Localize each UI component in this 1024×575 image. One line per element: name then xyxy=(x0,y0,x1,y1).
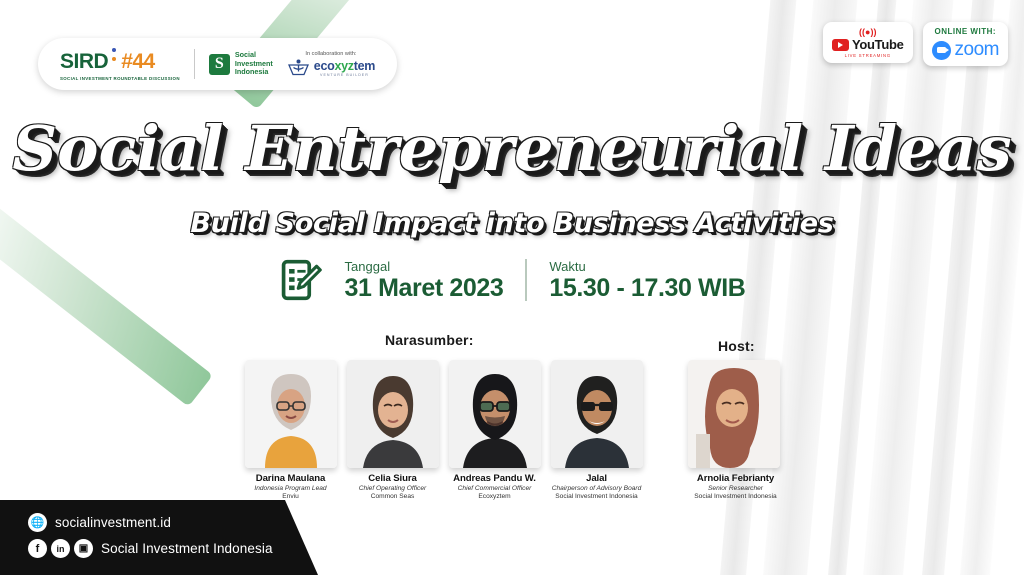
sii-line-3: Indonesia xyxy=(235,68,273,76)
speaker-photo-andreas-pandu-w xyxy=(449,360,541,468)
host-role: Senior Researcher xyxy=(688,485,783,493)
speaker-card: Jalal Chairperson of Advisory Board Soci… xyxy=(549,360,644,501)
youtube-play-icon xyxy=(832,39,849,51)
ecoxyztem-wordmark: ecoxyztem xyxy=(314,59,375,73)
speakers-list: Darina Maulana Indonesia Program Lead En… xyxy=(243,360,644,501)
social-row: f in ▣ Social Investment Indonesia xyxy=(28,539,318,558)
globe-icon: 🌐 xyxy=(28,513,47,532)
ecoxyztem-mark-icon xyxy=(287,59,310,77)
event-poster: SIRD #44 SOCIAL INVESTMENT ROUNDTABLE DI… xyxy=(0,0,1024,575)
speaker-name: Celia Siura xyxy=(368,473,417,484)
social-investment-indonesia-logo: S Social Investment Indonesia xyxy=(209,51,273,76)
social-handle: Social Investment Indonesia xyxy=(101,541,273,556)
speaker-card: Darina Maulana Indonesia Program Lead En… xyxy=(243,360,338,501)
logo-bar: SIRD #44 SOCIAL INVESTMENT ROUNDTABLE DI… xyxy=(38,38,397,90)
host-label: Host: xyxy=(718,338,755,354)
youtube-label: YouTube xyxy=(852,37,904,52)
speaker-card: Celia Siura Chief Operating Officer Comm… xyxy=(345,360,440,501)
broadcast-icon: ((●)) xyxy=(859,27,876,37)
sird-logo: SIRD #44 SOCIAL INVESTMENT ROUNDTABLE DI… xyxy=(60,48,180,81)
website-row[interactable]: 🌐 socialinvestment.id xyxy=(28,513,318,532)
speaker-name: Jalal xyxy=(586,473,607,484)
host-photo-arnolia-febrianty xyxy=(688,360,780,468)
speaker-name: Andreas Pandu W. xyxy=(453,473,536,484)
speaker-org: Common Seas xyxy=(371,493,415,501)
speaker-role: Chief Commercial Officer xyxy=(458,485,532,493)
speaker-name: Darina Maulana xyxy=(256,473,326,484)
facebook-icon[interactable]: f xyxy=(28,539,47,558)
ecoxyztem-tagline: VENTURE BUILDER xyxy=(314,73,375,77)
speaker-role: Chief Operating Officer xyxy=(359,485,426,493)
speaker-role: Chairperson of Advisory Board xyxy=(552,485,642,493)
speaker-org: Ecoxyztem xyxy=(478,493,510,501)
sird-wordmark: SIRD xyxy=(60,50,108,74)
event-subtitle: Build Social Impact into Business Activi… xyxy=(0,208,1024,239)
speaker-role: Indonesia Program Lead xyxy=(254,485,326,493)
schedule-divider xyxy=(525,259,527,301)
host-card: Arnolia Febrianty Senior Researcher Soci… xyxy=(688,360,783,501)
speaker-org: Social Investment Indonesia xyxy=(555,493,637,501)
sii-wordmark: Social Investment Indonesia xyxy=(235,51,273,76)
linkedin-icon[interactable]: in xyxy=(51,539,70,558)
sird-tagline: SOCIAL INVESTMENT ROUNDTABLE DISCUSSION xyxy=(60,76,180,81)
streaming-badges: ((●)) YouTube LIVE STREAMING ONLINE WITH… xyxy=(823,22,1008,66)
sird-edition-number: #44 xyxy=(121,50,155,74)
footer-bar: 🌐 socialinvestment.id f in ▣ Social Inve… xyxy=(0,500,318,575)
host-name: Arnolia Febrianty xyxy=(688,473,783,484)
form-edit-icon xyxy=(279,258,323,302)
speaker-photo-darina-maulana xyxy=(245,360,337,468)
schedule-row: Tanggal 31 Maret 2023 Waktu 15.30 - 17.3… xyxy=(0,258,1024,302)
time-label: Waktu xyxy=(549,259,745,274)
time-block: Waktu 15.30 - 17.30 WIB xyxy=(549,259,745,302)
speaker-photo-jalal xyxy=(551,360,643,468)
speaker-card: Andreas Pandu W. Chief Commercial Office… xyxy=(447,360,542,501)
zoom-label: zoom xyxy=(955,39,999,61)
speakers-label: Narasumber: xyxy=(385,332,474,348)
date-value: 31 Maret 2023 xyxy=(345,274,504,302)
collaboration-label: In collaboration with: xyxy=(305,51,356,57)
speaker-org: Enviu xyxy=(282,493,299,501)
host-org: Social Investment Indonesia xyxy=(688,493,783,501)
sii-s-mark-icon: S xyxy=(209,54,230,75)
zoom-badge[interactable]: ONLINE WITH: zoom xyxy=(923,22,1008,66)
speaker-photo-celia-siura xyxy=(347,360,439,468)
youtube-live-label: LIVE STREAMING xyxy=(845,53,891,58)
event-title: Social Entrepreneurial Ideas xyxy=(0,112,1024,185)
sird-dots-icon xyxy=(110,48,119,68)
collaboration-block: In collaboration with: ecoxyztem VENTURE… xyxy=(287,51,375,77)
zoom-camera-icon xyxy=(932,41,951,60)
website-url: socialinvestment.id xyxy=(55,515,171,530)
logo-divider xyxy=(194,49,195,79)
youtube-badge[interactable]: ((●)) YouTube LIVE STREAMING xyxy=(823,22,913,63)
online-with-label: ONLINE WITH: xyxy=(934,27,996,36)
date-block: Tanggal 31 Maret 2023 xyxy=(345,259,504,302)
time-value: 15.30 - 17.30 WIB xyxy=(549,274,745,302)
date-label: Tanggal xyxy=(345,259,504,274)
instagram-icon[interactable]: ▣ xyxy=(74,539,93,558)
